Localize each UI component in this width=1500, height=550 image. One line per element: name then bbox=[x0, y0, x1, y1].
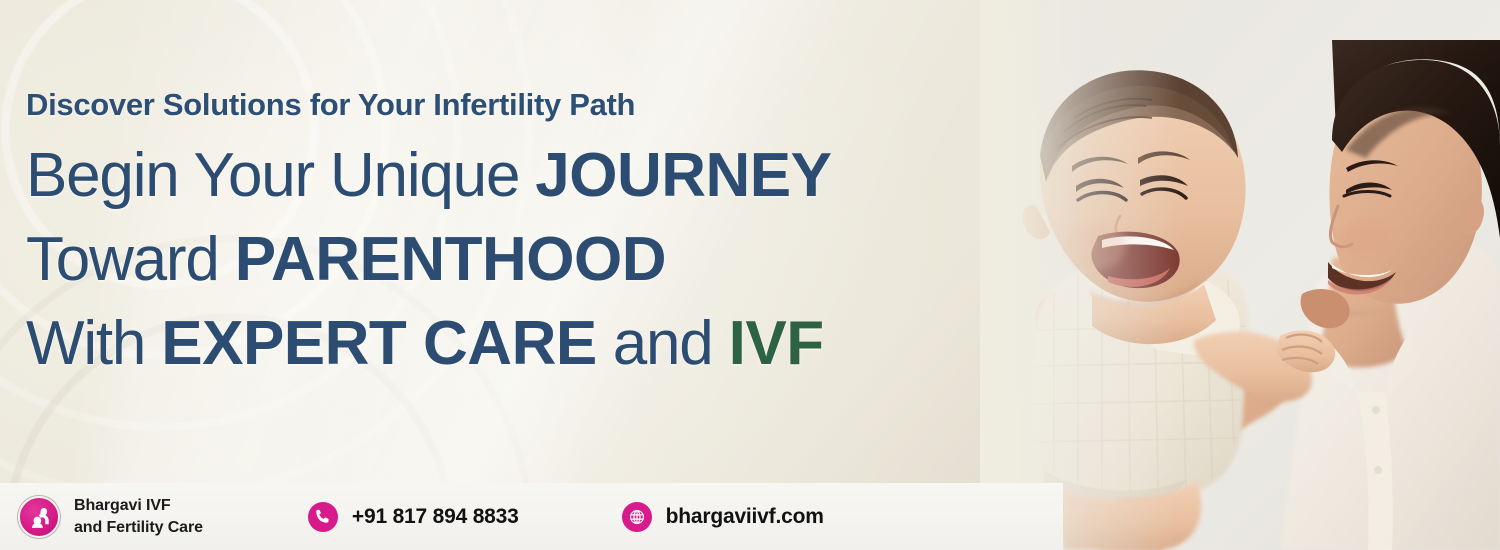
website-group[interactable]: bhargaviivf.com bbox=[622, 502, 824, 532]
phone-number[interactable]: +91 817 894 8833 bbox=[352, 505, 519, 529]
brand-name: Bhargavi IVF and Fertility Care bbox=[74, 495, 203, 539]
headline-line-2-bold: PARENTHOOD bbox=[235, 225, 666, 294]
brand-group: Bhargavi IVF and Fertility Care bbox=[18, 495, 203, 539]
phone-group[interactable]: +91 817 894 8833 bbox=[308, 502, 519, 532]
headline-line-3-green: IVF bbox=[729, 309, 824, 378]
headline-block: Discover Solutions for Your Infertility … bbox=[26, 88, 1036, 386]
ivf-promo-banner: Discover Solutions for Your Infertility … bbox=[0, 0, 1500, 550]
phone-icon[interactable] bbox=[308, 502, 338, 532]
website-url[interactable]: bhargaviivf.com bbox=[666, 505, 824, 529]
globe-icon[interactable] bbox=[622, 502, 652, 532]
headline-line-1-light: Begin Your Unique bbox=[26, 141, 519, 210]
brand-name-line-2: and Fertility Care bbox=[74, 517, 203, 539]
headline-line-2-light: Toward bbox=[26, 225, 219, 294]
headline-line-1-bold: JOURNEY bbox=[535, 141, 831, 210]
eyebrow-text: Discover Solutions for Your Infertility … bbox=[26, 88, 1036, 122]
mother-and-baby-logo-icon bbox=[18, 496, 60, 538]
mother-and-baby-photo bbox=[980, 0, 1500, 550]
headline-line-3: With EXPERT CARE and IVF bbox=[26, 302, 1036, 386]
headline-line-2: Toward PARENTHOOD bbox=[26, 218, 1036, 302]
brand-name-line-1: Bhargavi IVF bbox=[74, 495, 203, 517]
headline-line-1: Begin Your Unique JOURNEY bbox=[26, 134, 1036, 218]
contact-footer-bar: Bhargavi IVF and Fertility Care +91 817 … bbox=[0, 483, 1063, 550]
headline-line-3-mid: and bbox=[613, 309, 713, 378]
photo-illustration bbox=[980, 0, 1500, 550]
headline-line-3-bold: EXPERT CARE bbox=[161, 309, 596, 378]
headline-line-3-light: With bbox=[26, 309, 145, 378]
